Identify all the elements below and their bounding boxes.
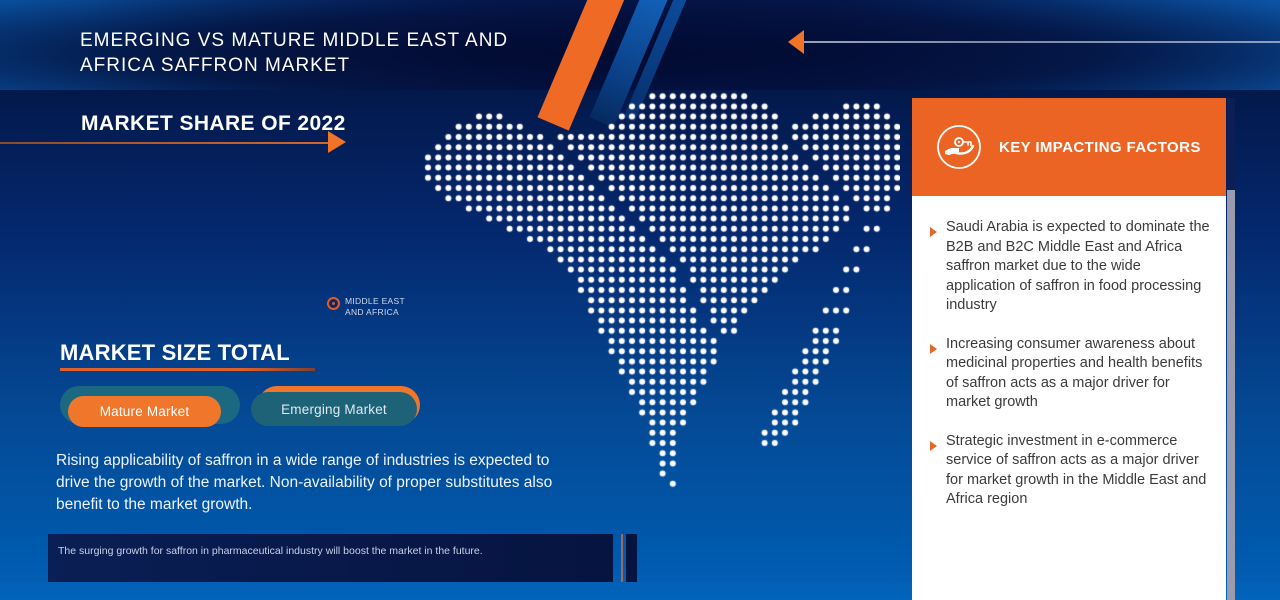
key-factors-title: KEY IMPACTING FACTORS — [999, 139, 1201, 156]
map-legend-text: MIDDLE EAST AND AFRICA — [345, 296, 405, 317]
mature-market-pill[interactable]: Mature Market — [68, 396, 221, 427]
key-factors-list: Saudi Arabia is expected to dominate the… — [912, 196, 1226, 600]
key-factor-text: Increasing consumer awareness about medi… — [946, 335, 1210, 413]
key-factor-item: Increasing consumer awareness about medi… — [930, 335, 1210, 413]
emerging-market-pill[interactable]: Emerging Market — [251, 392, 417, 426]
page-title: EMERGING VS MATURE MIDDLE EAST AND AFRIC… — [80, 28, 550, 78]
key-factor-item: Strategic investment in e-commerce servi… — [930, 432, 1210, 510]
key-factors-panel: KEY IMPACTING FACTORS Saudi Arabia is ex… — [912, 98, 1226, 600]
footer-banner — [48, 534, 613, 582]
key-factor-text: Strategic investment in e-commerce servi… — [946, 432, 1210, 510]
bullet-arrow-icon — [930, 227, 937, 237]
map-legend: MIDDLE EAST AND AFRICA — [327, 296, 405, 317]
hand-holding-key-icon — [935, 123, 983, 171]
map-legend-line1: MIDDLE EAST — [345, 296, 405, 307]
target-dot-icon — [327, 297, 340, 310]
map-legend-line2: AND AFRICA — [345, 307, 405, 318]
bullet-arrow-icon — [930, 441, 937, 451]
bullet-arrow-icon — [930, 344, 937, 354]
infographic-canvas: EMERGING VS MATURE MIDDLE EAST AND AFRIC… — [0, 0, 1280, 600]
body-paragraph: Rising applicability of saffron in a wid… — [56, 450, 556, 516]
arrow-left-icon — [788, 30, 804, 54]
market-share-label: MARKET SHARE OF 2022 — [81, 112, 346, 136]
footer-end-block — [626, 534, 637, 582]
key-factor-text: Saudi Arabia is expected to dominate the… — [946, 218, 1210, 316]
footer-note: The surging growth for saffron in pharma… — [58, 544, 583, 558]
footer-accent-line — [621, 534, 623, 582]
market-size-underline — [60, 368, 315, 371]
key-factors-header: KEY IMPACTING FACTORS — [912, 98, 1226, 196]
dotted-world-map — [420, 80, 900, 500]
header-arrow-line — [800, 41, 1280, 43]
market-size-label: MARKET SIZE TOTAL — [60, 340, 290, 366]
key-factor-item: Saudi Arabia is expected to dominate the… — [930, 218, 1210, 316]
panel-scrollbar[interactable] — [1227, 190, 1235, 600]
panel-scroll-cap — [1227, 98, 1235, 190]
market-share-line — [0, 142, 330, 144]
